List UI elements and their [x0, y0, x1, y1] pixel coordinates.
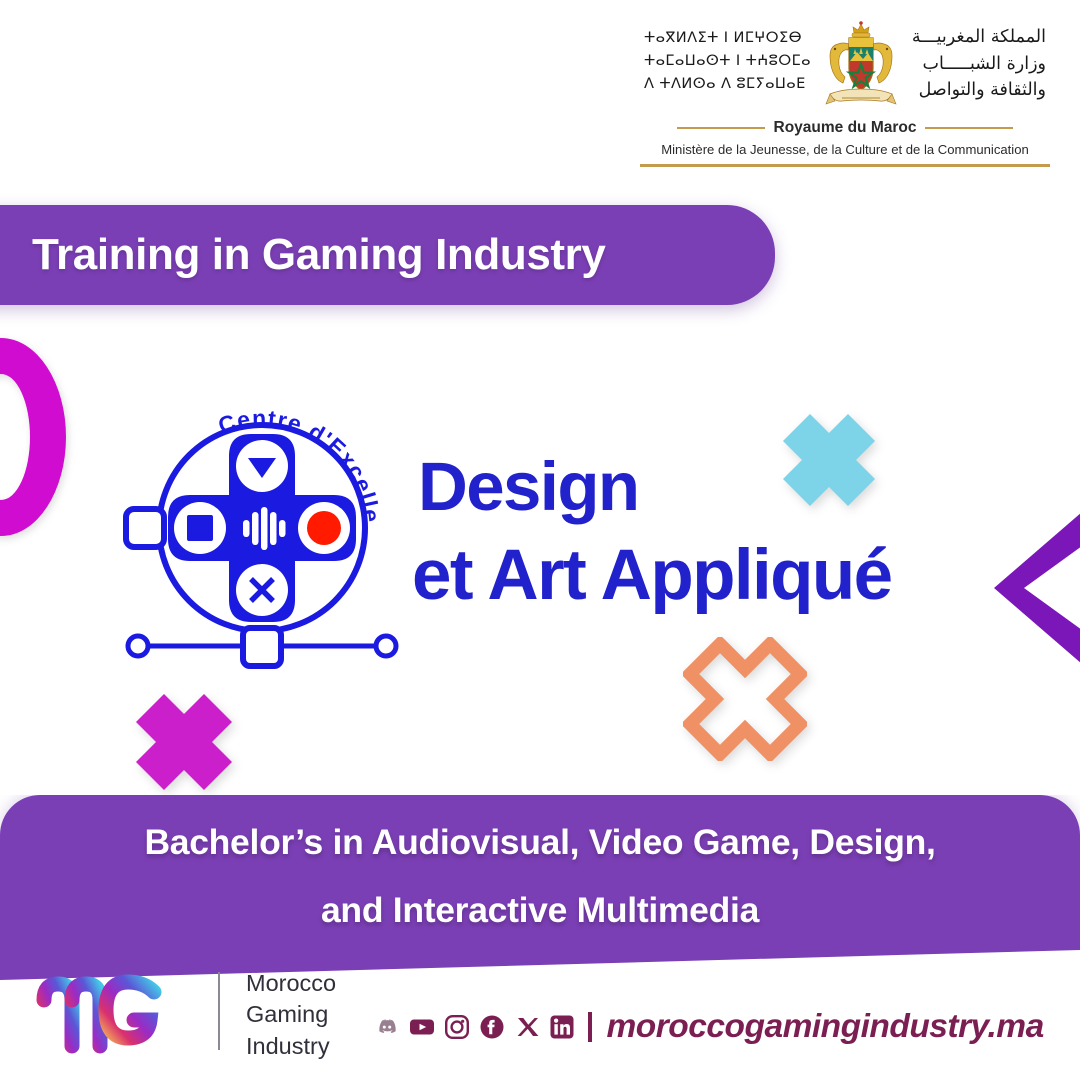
logo-divider [218, 972, 220, 1050]
arabic-ministry-text: المملكة المغربيـــة وزارة الشبـــــاب وا… [912, 20, 1046, 104]
arabic-line-2: وزارة الشبـــــاب [912, 51, 1046, 78]
program-wordmark: Design et Art Appliqué [412, 452, 987, 614]
program-banner-line-2: and Interactive Multimedia [64, 893, 1016, 929]
royaume-du-maroc-row: Royaume du Maroc [640, 119, 1050, 137]
purple-chevron-left-shape [994, 512, 1080, 664]
facebook-icon[interactable] [479, 1014, 505, 1040]
brand-name: Morocco Gaming Industry [246, 968, 336, 1062]
tifinagh-ministry-text: ⵜⴰⴳⵍⴷⵉⵜ ⵏ ⵍⵎⵖⵔⵉⴱ ⵜⴰⵎⴰⵡⴰⵙⵜ ⵏ ⵜⵄⵓⵔⵎⴰ ⴷ ⵜⴷⵍ… [644, 20, 811, 95]
magenta-ring-shape [0, 338, 66, 536]
gold-divider-right [925, 127, 1013, 130]
centre-dexcellence-logo-icon: Centre d'Excellence [112, 378, 412, 678]
ministere-label: Ministère de la Jeunesse, de la Culture … [640, 142, 1050, 157]
government-header: ⵜⴰⴳⵍⴷⵉⵜ ⵏ ⵍⵎⵖⵔⵉⴱ ⵜⴰⵎⴰⵡⴰⵙⵜ ⵏ ⵜⵄⵓⵔⵎⴰ ⴷ ⵜⴷⵍ… [640, 20, 1050, 172]
page-title: Training in Gaming Industry [32, 230, 605, 280]
arabic-line-3: والثقافة والتواصل [912, 77, 1046, 104]
wordmark-line-1: Design [418, 452, 987, 521]
arabic-line-1: المملكة المغربيـــة [912, 24, 1046, 51]
government-header-top-row: ⵜⴰⴳⵍⴷⵉⵜ ⵏ ⵍⵎⵖⵔⵉⴱ ⵜⴰⵎⴰⵡⴰⵙⵜ ⵏ ⵜⵄⵓⵔⵎⴰ ⴷ ⵜⴷⵍ… [640, 20, 1050, 118]
gold-divider-left [677, 127, 765, 130]
x-twitter-icon[interactable] [514, 1014, 540, 1040]
brand-line-3: Industry [246, 1031, 336, 1062]
website-url[interactable]: moroccogamingindustry.ma [607, 1008, 1044, 1046]
url-separator [588, 1012, 592, 1042]
royaume-du-maroc-label: Royaume du Maroc [774, 119, 917, 137]
discord-icon[interactable] [374, 1014, 400, 1040]
title-banner: Training in Gaming Industry [0, 205, 775, 305]
brand-line-1: Morocco [246, 968, 336, 999]
youtube-icon[interactable] [409, 1014, 435, 1040]
gold-rule-bottom [640, 164, 1050, 167]
program-banner-line-1: Bachelor’s in Audiovisual, Video Game, D… [64, 825, 1016, 861]
magenta-cross-shape [136, 694, 232, 790]
brand-line-2: Gaming [246, 999, 336, 1030]
social-and-website-row: moroccogamingindustry.ma [374, 1008, 1044, 1046]
morocco-coat-of-arms-icon [822, 20, 900, 114]
linkedin-icon[interactable] [549, 1014, 575, 1040]
mgi-gradient-logo-icon [34, 966, 209, 1056]
tifinagh-line-3: ⴷ ⵜⴷⵍⵙⴰ ⴷ ⵓⵎⵢⴰⵡⴰⴹ [644, 72, 811, 95]
orange-outline-cross-shape [683, 637, 807, 761]
wordmark-line-2: et Art Appliqué [412, 540, 987, 611]
tifinagh-line-2: ⵜⴰⵎⴰⵡⴰⵙⵜ ⵏ ⵜⵄⵓⵔⵎⴰ [644, 49, 811, 72]
instagram-icon[interactable] [444, 1014, 470, 1040]
tifinagh-line-1: ⵜⴰⴳⵍⴷⵉⵜ ⵏ ⵍⵎⵖⵔⵉⴱ [644, 26, 811, 49]
